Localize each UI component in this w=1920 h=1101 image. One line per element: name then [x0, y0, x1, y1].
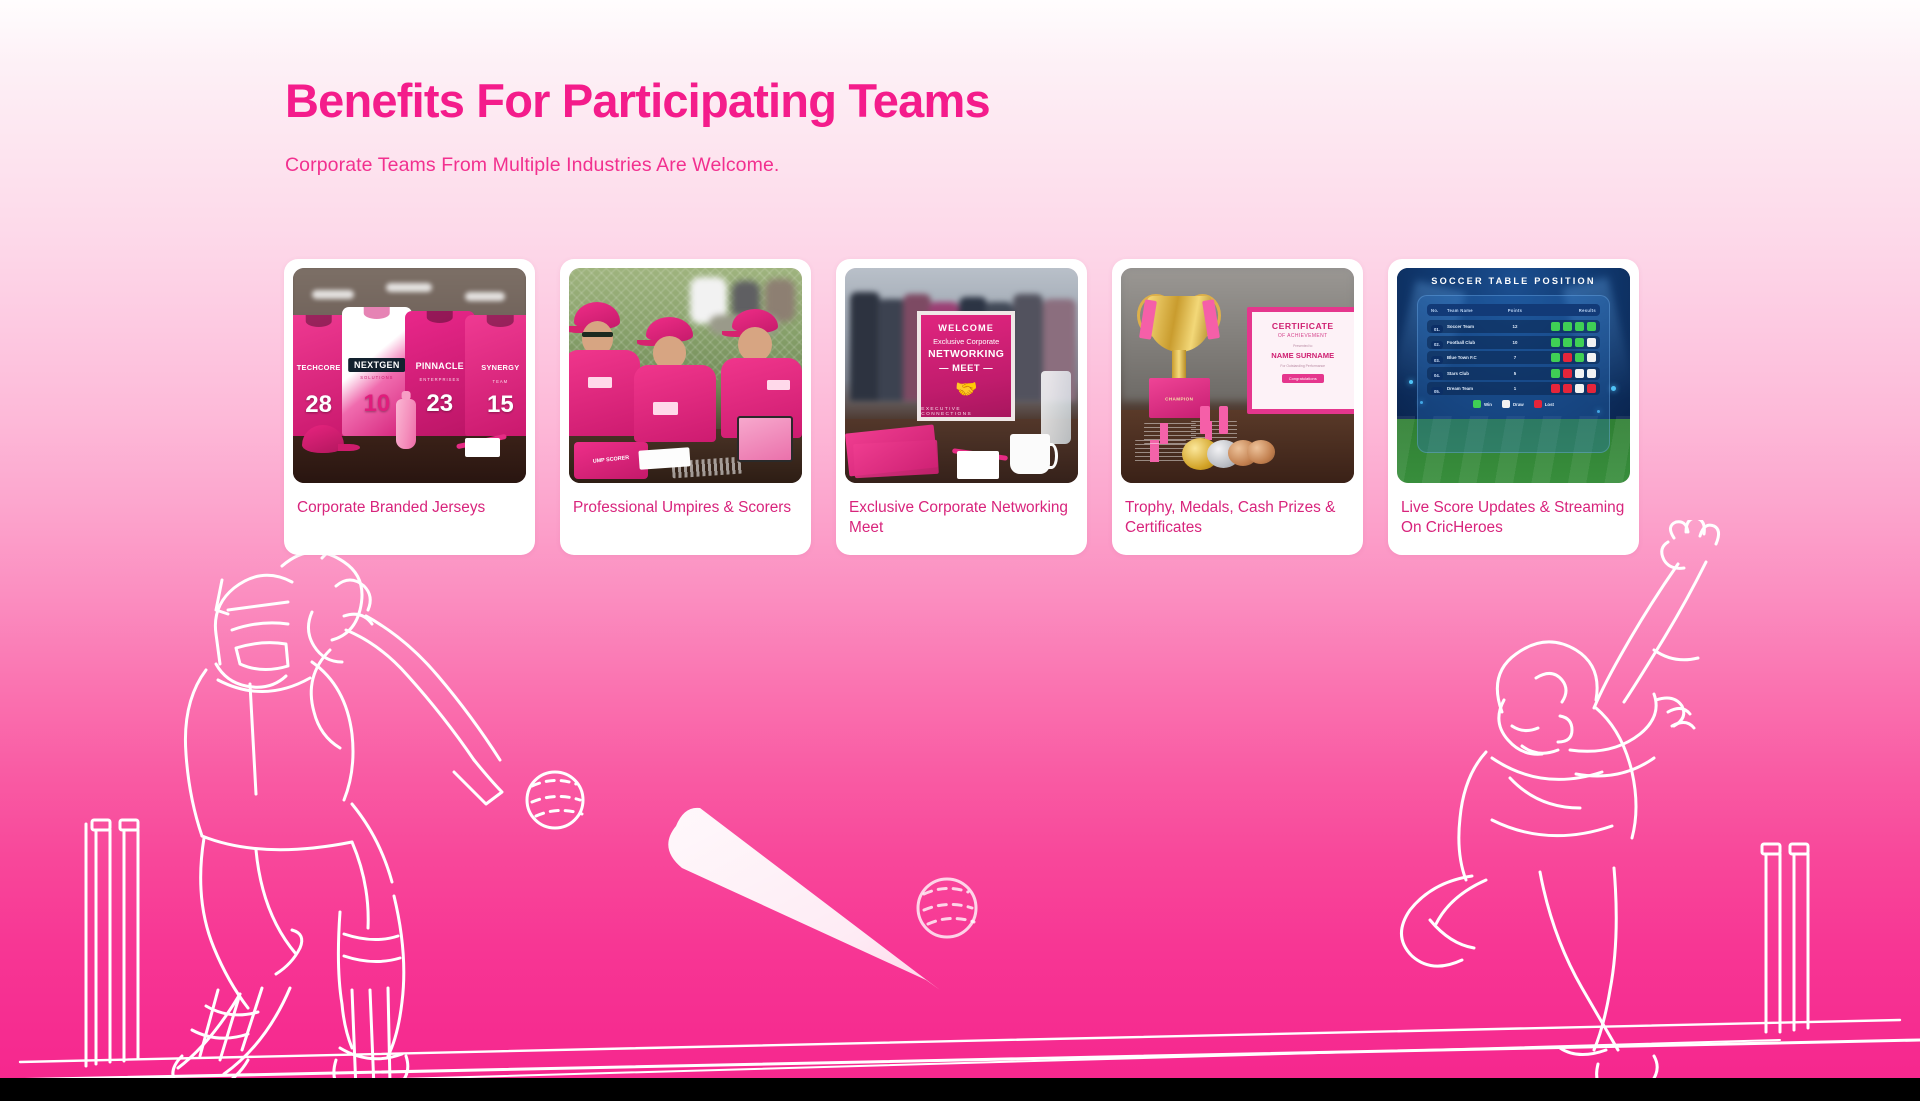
scoreboard-title: SOCCER TABLE POSITION	[1397, 276, 1630, 286]
poster-footer: EXECUTIVE CONNECTIONS	[921, 407, 1011, 417]
bag-label: UMP SCORER	[592, 455, 629, 465]
row-team-name: Stars Club	[1447, 371, 1498, 376]
row-results	[1532, 338, 1596, 347]
certificate-stamp: Congratulations	[1282, 374, 1324, 383]
benefit-card-jerseys[interactable]: TECHCORE 28 NEXTGEN SOLUTIONS 10 PINNACL…	[284, 259, 535, 555]
result-chip-w	[1551, 322, 1560, 331]
legend-label: Win	[1484, 402, 1492, 407]
result-chip-d	[1575, 384, 1584, 393]
trophy-plaque-label: CHAMPION	[1165, 396, 1193, 401]
result-chip-w	[1575, 353, 1584, 362]
certificate-name: NAME SURNAME	[1271, 351, 1334, 360]
col-team-name: Team Name	[1447, 308, 1498, 313]
result-chip-w	[1551, 353, 1560, 362]
benefits-card-list: TECHCORE 28 NEXTGEN SOLUTIONS 10 PINNACL…	[284, 259, 1639, 555]
row-team-name: Blue Town F.C	[1447, 355, 1498, 360]
result-chip-l	[1587, 384, 1596, 393]
scoreboard-rows: 01.Soccer Team1202.Football Club1003.Blu…	[1427, 320, 1600, 395]
scoreboard-panel: No. Team Name Points Results 01.Soccer T…	[1417, 295, 1610, 453]
certificate-presented-label: Presented to	[1293, 344, 1312, 348]
ball-trail-comet	[640, 790, 1000, 1030]
benefit-card-trophy[interactable]: CHAMPION CERTIFICATE OF ACHIEVEME	[1112, 259, 1363, 555]
handshake-icon: 🤝	[955, 379, 977, 400]
result-chip-d	[1575, 369, 1584, 378]
benefit-card-live-score[interactable]: SOCCER TABLE POSITION No. Team Name Poin…	[1388, 259, 1639, 555]
row-results	[1532, 384, 1596, 393]
scoreboard-row: 05.Dream Team1	[1427, 382, 1600, 395]
bowler-line-art	[1401, 520, 1718, 1096]
card-caption: Professional Umpires & Scorers	[569, 483, 802, 518]
scoreboard-legend: WinDrawLost	[1427, 400, 1600, 408]
legend-item-lost: Lost	[1534, 400, 1554, 408]
result-chip-d	[1587, 353, 1596, 362]
legend-swatch	[1473, 400, 1481, 408]
legend-item-win: Win	[1473, 400, 1492, 408]
footer-black-band	[0, 1078, 1920, 1101]
row-points: 1	[1498, 386, 1532, 391]
col-points: Points	[1498, 308, 1532, 313]
legend-swatch	[1502, 400, 1510, 408]
row-team-name: Soccer Team	[1447, 324, 1498, 329]
result-chip-w	[1551, 338, 1560, 347]
row-points: 7	[1498, 355, 1532, 360]
result-chip-d	[1587, 338, 1596, 347]
row-results	[1532, 369, 1596, 378]
poster-meet: — MEET —	[939, 362, 993, 373]
legend-swatch	[1534, 400, 1542, 408]
row-team-name: Dream Team	[1447, 386, 1498, 391]
legend-item-draw: Draw	[1502, 400, 1524, 408]
cricket-ball-left	[527, 772, 583, 828]
benefit-card-networking[interactable]: WELCOME Exclusive Corporate NETWORKING —…	[836, 259, 1087, 555]
row-points: 12	[1498, 324, 1532, 329]
card-image-networking: WELCOME Exclusive Corporate NETWORKING —…	[845, 268, 1078, 483]
card-caption: Corporate Branded Jerseys	[293, 483, 526, 518]
card-image-umpires: UMP SCORER	[569, 268, 802, 483]
col-results: Results	[1532, 308, 1596, 313]
page-title: Benefits For Participating Teams	[285, 76, 990, 127]
row-points: 5	[1498, 371, 1532, 376]
scoreboard-row: 04.Stars Club5	[1427, 367, 1600, 380]
legend-label: Lost	[1545, 402, 1554, 407]
certificate-title: CERTIFICATE	[1272, 321, 1334, 331]
certificate-subtitle: OF ACHIEVEMENT	[1278, 333, 1328, 339]
result-chip-w	[1563, 338, 1572, 347]
right-stumps	[1762, 844, 1808, 1032]
page-background: Benefits For Participating Teams Corpora…	[0, 0, 1920, 1101]
left-stumps	[86, 820, 138, 1066]
card-caption: Exclusive Corporate Networking Meet	[845, 483, 1078, 537]
row-points: 10	[1498, 340, 1532, 345]
poster-networking: NETWORKING	[928, 349, 1004, 360]
result-chip-w	[1575, 322, 1584, 331]
card-image-trophy: CHAMPION CERTIFICATE OF ACHIEVEME	[1121, 268, 1354, 483]
result-chip-l	[1563, 353, 1572, 362]
scoreboard-header-row: No. Team Name Points Results	[1427, 304, 1600, 316]
row-team-name: Football Club	[1447, 340, 1498, 345]
card-caption: Trophy, Medals, Cash Prizes & Certificat…	[1121, 483, 1354, 537]
card-caption: Live Score Updates & Streaming On CricHe…	[1397, 483, 1630, 537]
card-image-jerseys: TECHCORE 28 NEXTGEN SOLUTIONS 10 PINNACL…	[293, 268, 526, 483]
legend-label: Draw	[1513, 402, 1524, 407]
scoreboard-row: 03.Blue Town F.C7	[1427, 351, 1600, 364]
result-chip-d	[1587, 369, 1596, 378]
row-number: 05.	[1431, 380, 1447, 398]
col-no: No.	[1431, 308, 1447, 313]
result-chip-w	[1587, 322, 1596, 331]
result-chip-l	[1563, 369, 1572, 378]
certificate-reason: For Outstanding Performance	[1280, 364, 1325, 368]
row-results	[1532, 353, 1596, 362]
result-chip-w	[1551, 369, 1560, 378]
result-chip-w	[1563, 322, 1572, 331]
poster-welcome: WELCOME	[938, 323, 994, 333]
result-chip-w	[1575, 338, 1584, 347]
result-chip-l	[1551, 384, 1560, 393]
result-chip-l	[1563, 384, 1572, 393]
batsman-line-art	[173, 549, 502, 1097]
scoreboard-row: 01.Soccer Team12	[1427, 320, 1600, 333]
row-results	[1532, 322, 1596, 331]
benefit-card-umpires[interactable]: UMP SCORER Professional Umpires & Scorer…	[560, 259, 811, 555]
poster-subtitle: Exclusive Corporate	[933, 337, 999, 346]
card-image-scoreboard: SOCCER TABLE POSITION No. Team Name Poin…	[1397, 268, 1630, 483]
scoreboard-row: 02.Football Club10	[1427, 336, 1600, 349]
page-subtitle: Corporate Teams From Multiple Industries…	[285, 154, 990, 177]
header-block: Benefits For Participating Teams Corpora…	[285, 76, 990, 177]
